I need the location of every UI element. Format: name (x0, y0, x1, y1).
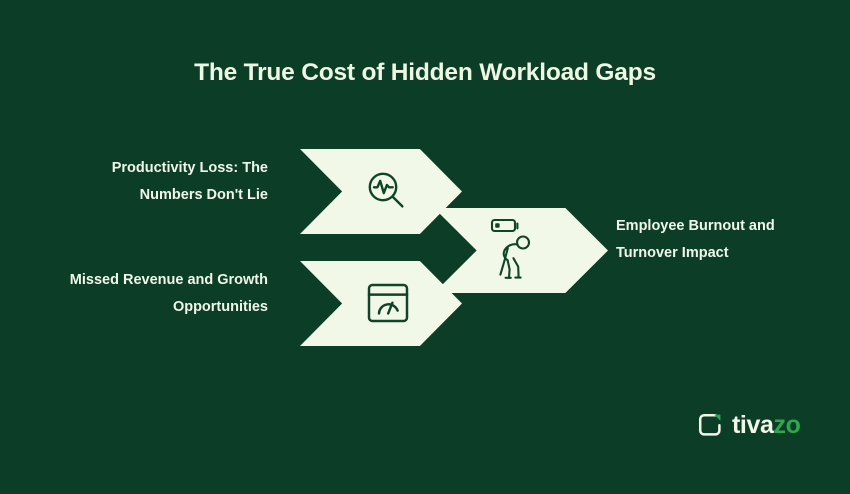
step-label-productivity-loss: Productivity Loss: The Numbers Don't Lie (60, 155, 268, 209)
brand-logo: tivazo (697, 412, 800, 438)
gauge-window-icon-svg (366, 282, 410, 324)
logo-wordmark: tivazo (732, 412, 800, 438)
logo-word-part-2: zo (773, 411, 800, 439)
gauge-window-icon (363, 278, 413, 328)
tivazo-bracket-mark (697, 412, 723, 438)
page-title: The True Cost of Hidden Workload Gaps (0, 58, 850, 88)
burnout-person-icon-svg (488, 217, 536, 283)
logo-word-part-1: tiva (732, 411, 773, 439)
step-label-missed-revenue: Missed Revenue and Growth Opportunities (60, 267, 268, 321)
pulse-search-icon (362, 166, 412, 216)
infographic-canvas: The True Cost of Hidden Workload Gaps Pr… (0, 0, 850, 494)
tivazo-bracket-mark-svg (697, 412, 723, 438)
step-label-employee-burnout: Employee Burnout and Turnover Impact (616, 213, 816, 267)
burnout-person-icon (487, 216, 537, 284)
pulse-search-icon-svg (364, 168, 410, 214)
